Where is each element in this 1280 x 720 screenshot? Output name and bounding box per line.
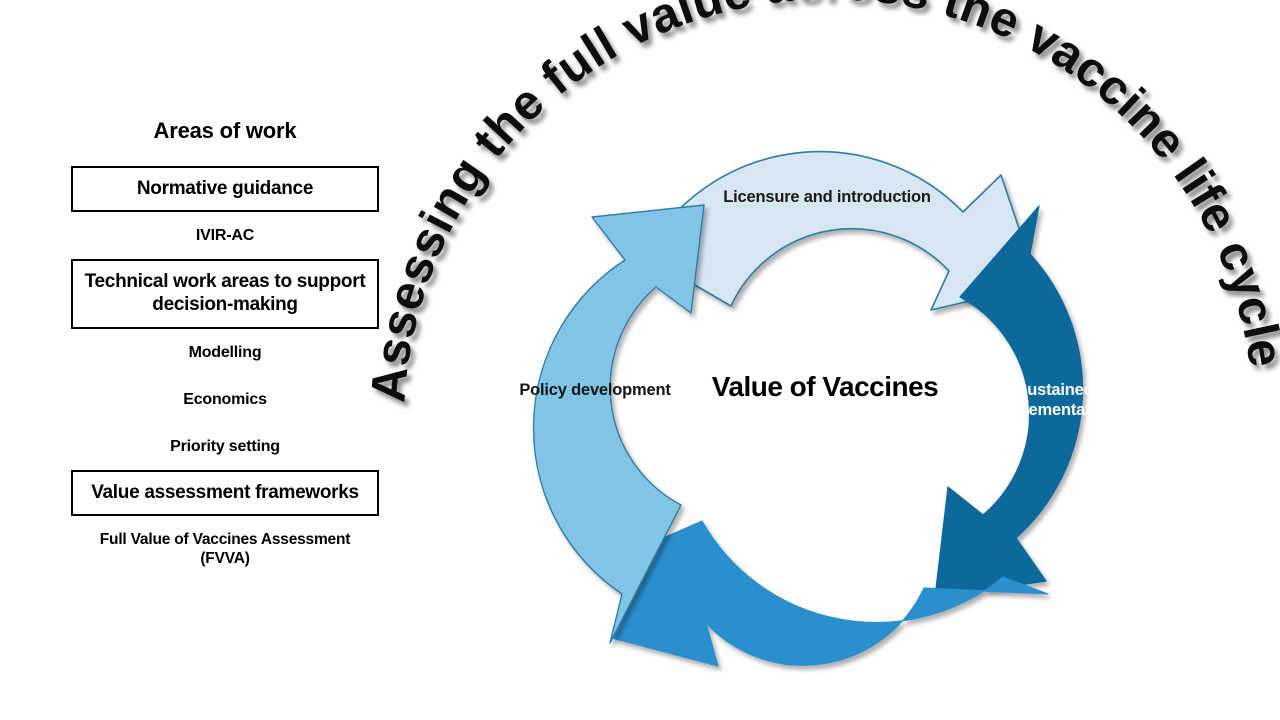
aow-item-ivir-ac[interactable]: IVIR-AC: [71, 212, 379, 259]
aow-item-fvva[interactable]: Full Value of Vaccines Assessment (FVVA): [71, 516, 379, 582]
areas-of-work-title: Areas of work: [71, 118, 379, 144]
aow-item-priority-setting[interactable]: Priority setting: [71, 423, 379, 470]
areas-of-work-panel: Areas of work Normative guidance IVIR-AC…: [71, 118, 379, 581]
aow-item-technical-work-areas[interactable]: Technical work areas to support decision…: [71, 259, 379, 328]
aow-item-normative-guidance[interactable]: Normative guidance: [71, 166, 379, 212]
aow-item-modelling[interactable]: Modelling: [71, 329, 379, 376]
aow-item-economics[interactable]: Economics: [71, 376, 379, 423]
aow-item-value-assessment-frameworks[interactable]: Value assessment frameworks: [71, 470, 379, 516]
